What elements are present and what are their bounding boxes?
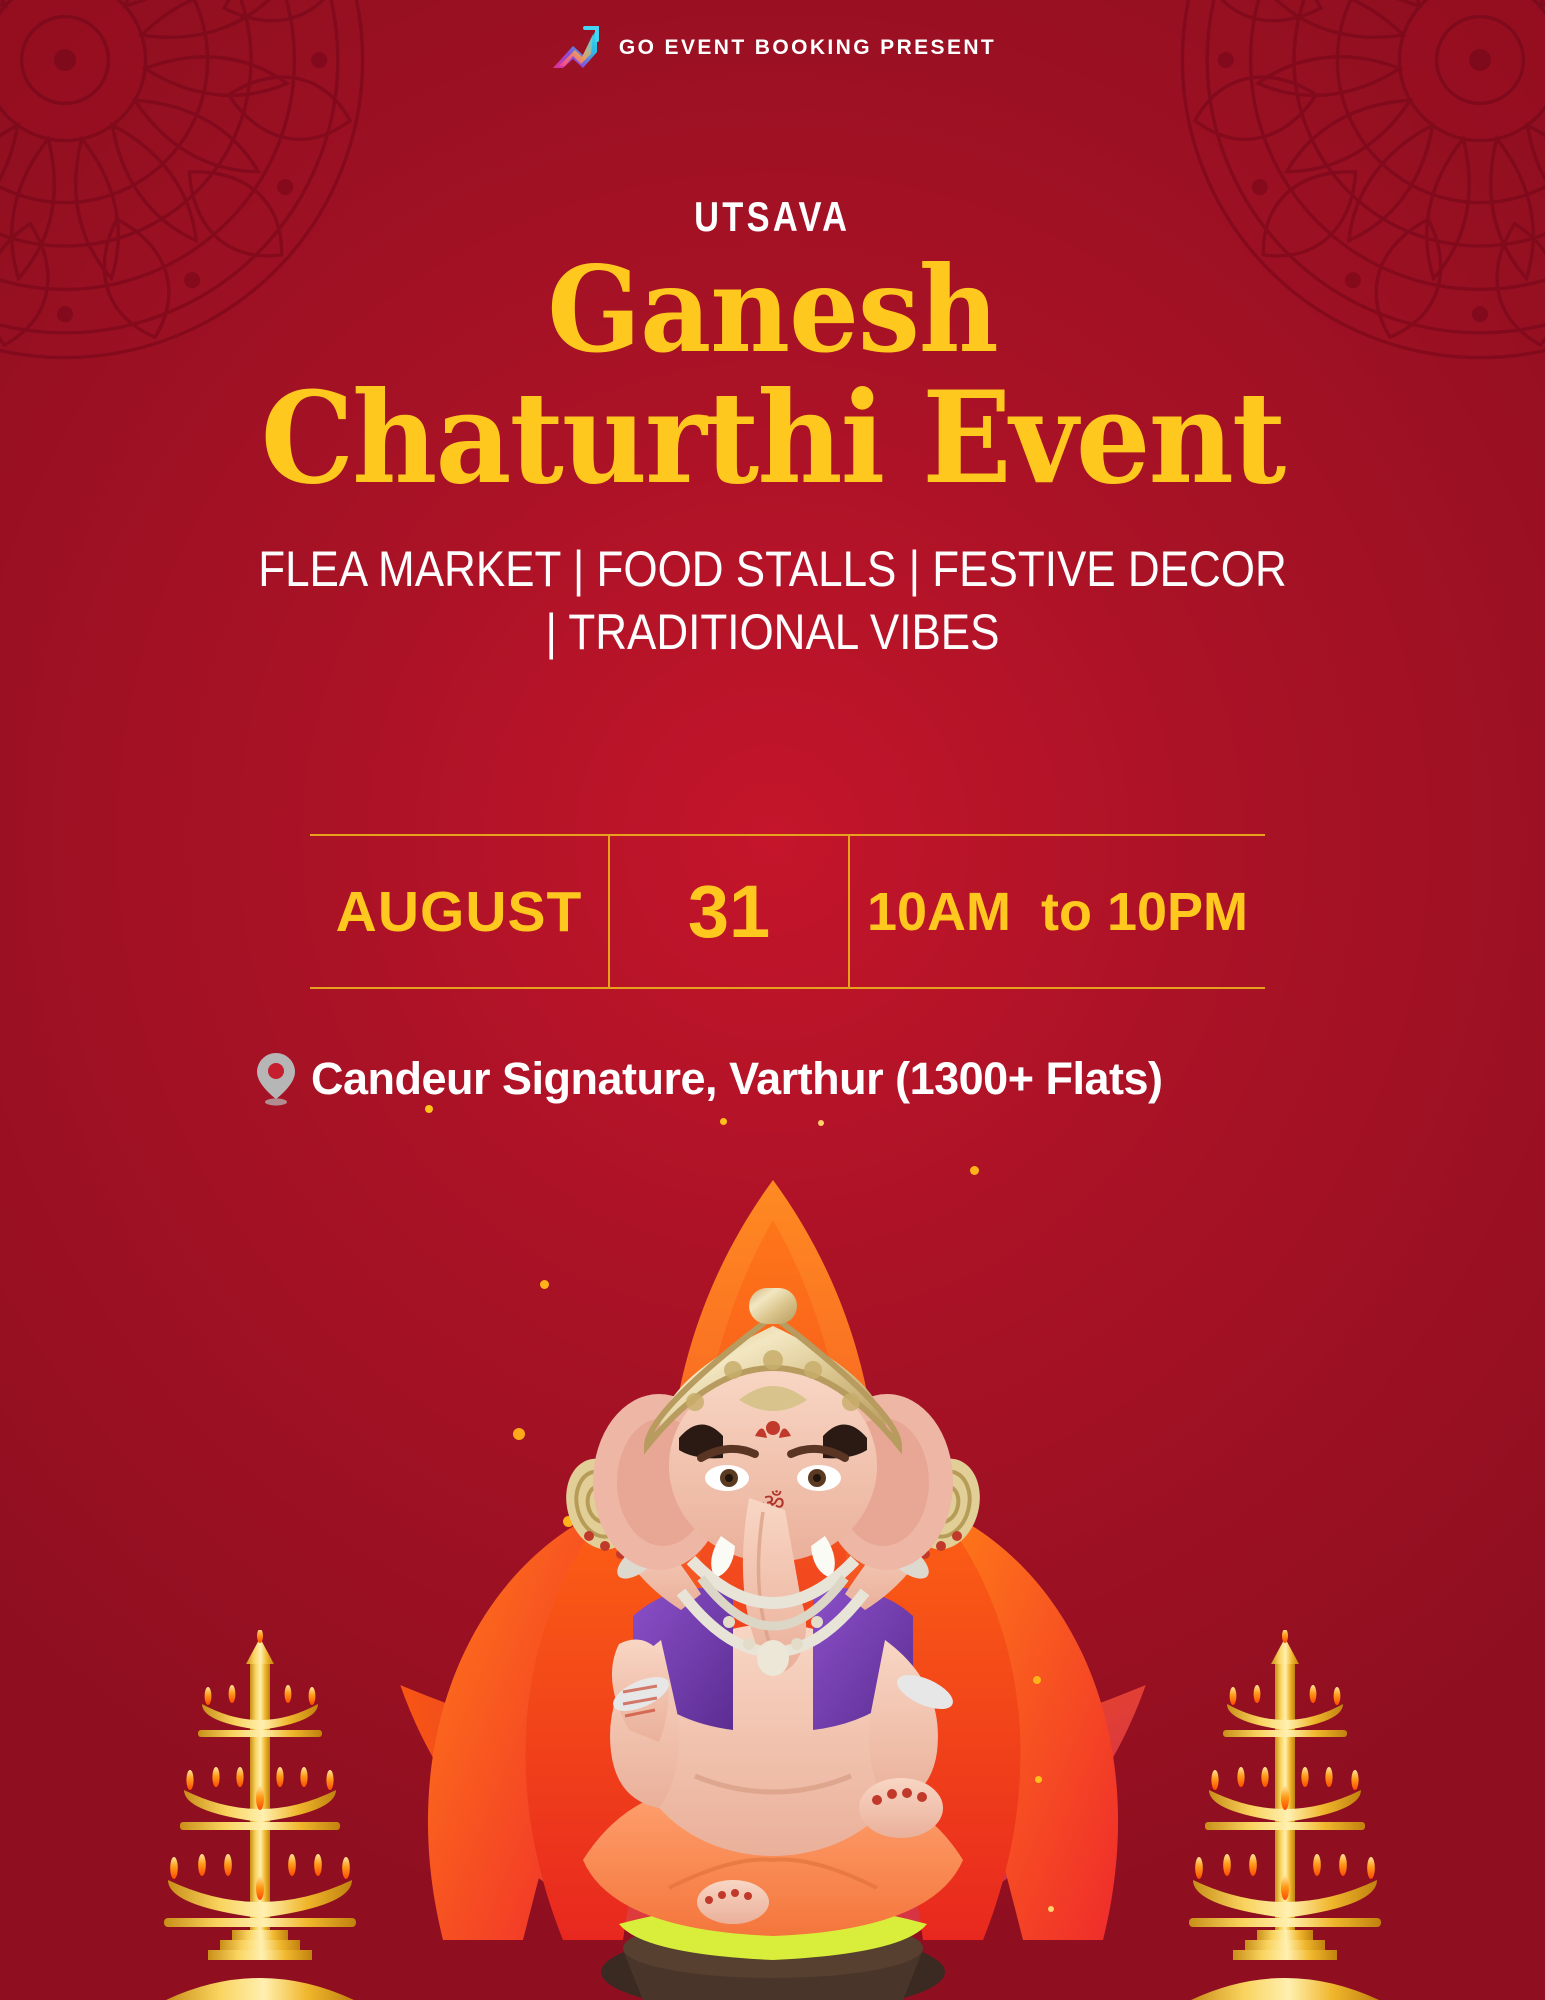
ganesha-idol-icon: ॐ <box>433 1260 1113 2000</box>
headline-block: UTSAVA Ganesh Chaturthi Event FLEA MARKE… <box>0 196 1545 663</box>
gradient-arrow-logo-icon <box>549 22 601 74</box>
sparkle-dot <box>720 1118 727 1125</box>
location-pin-icon <box>255 1052 297 1106</box>
event-day: 31 <box>610 836 850 987</box>
title-line-1: Ganesh <box>54 248 1491 372</box>
sparkle-dot <box>818 1120 824 1126</box>
poster-header: GO EVENT BOOKING PRESENT <box>0 22 1545 74</box>
tagline: FLEA MARKET | FOOD STALLS | FESTIVE DECO… <box>93 538 1453 663</box>
tagline-line-2: | TRADITIONAL VIBES <box>93 601 1453 664</box>
brand-title: GO EVENT BOOKING PRESENT <box>619 36 996 60</box>
sparkle-dot <box>970 1166 979 1175</box>
tiered-oil-lamp-icon <box>140 1630 380 2000</box>
sparkle-dot <box>425 1105 433 1113</box>
venue-block: Candeur Signature, Varthur (1300+ Flats) <box>255 1052 1163 1106</box>
venue-name: Candeur Signature, Varthur (1300+ Flats) <box>311 1053 1163 1105</box>
tiered-oil-lamp-icon <box>1165 1630 1405 2000</box>
eyebrow-text: UTSAVA <box>694 196 850 238</box>
event-poster: ॐ <box>0 0 1545 2000</box>
event-time: 10AM to 10PM <box>850 836 1265 987</box>
date-time-bar: AUGUST 31 10AM to 10PM <box>310 834 1265 989</box>
title-line-2: Chaturthi Event <box>54 372 1491 504</box>
tagline-line-1: FLEA MARKET | FOOD STALLS | FESTIVE DECO… <box>93 538 1453 601</box>
event-month: AUGUST <box>310 836 610 987</box>
page-title: Ganesh Chaturthi Event <box>54 248 1491 504</box>
